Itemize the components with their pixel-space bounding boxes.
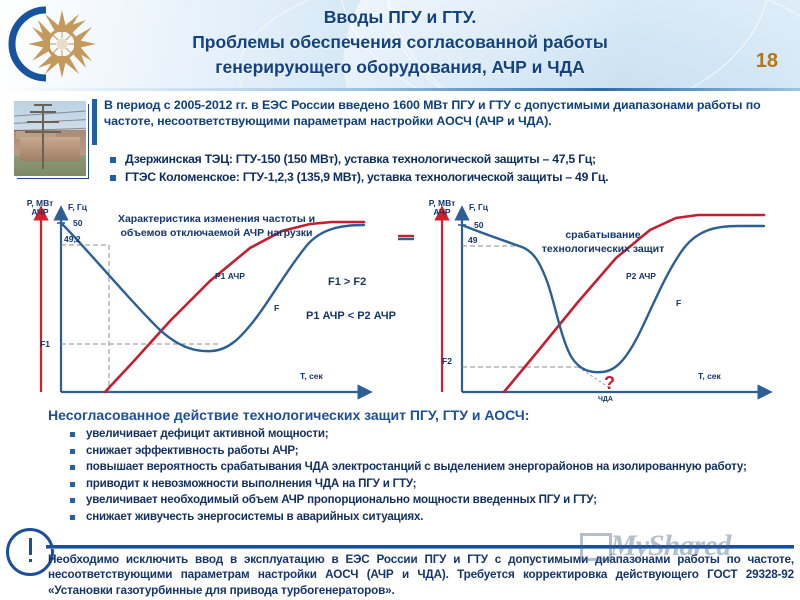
bullet-square-icon [70,449,75,454]
intro-bullet-1: Дзержинская ТЭЦ: ГТУ-150 (150 МВт), уста… [125,152,596,167]
svg-text:P2 АЧР: P2 АЧР [626,271,656,281]
svg-text:F: F [274,303,279,313]
svg-text:?: ? [604,373,615,393]
list-item: ГТЭС Коломенское: ГТУ-1,2,3 (135,9 МВт),… [110,170,800,185]
left-chart-note-2: P1 АЧР < P2 АЧР [306,310,396,322]
bullet-square-icon [70,515,75,520]
svg-text:50: 50 [73,218,83,228]
svg-text:F1: F1 [40,339,50,349]
charts-region: P, МВт АЧР F, Гц 50 49,2 F1 Т, сек P1 АЧ… [0,196,800,404]
left-chart-title-text: Характеристика изменения частоты и объем… [118,213,315,239]
intro-bullet-list: Дзержинская ТЭЦ: ГТУ-150 (150 МВт), уста… [110,152,800,188]
footer-divider [46,545,794,548]
slide-header: Вводы ПГУ и ГТУ. Проблемы обеспечения со… [0,0,800,88]
list-item: повышает вероятность срабатывания ЧДА эл… [70,460,788,474]
svg-text:F: F [676,298,681,308]
bullet-square-icon [70,432,75,437]
conclusion-item-2: снижает эффективность работы АЧР; [86,444,298,458]
svg-text:Т, сек: Т, сек [300,371,324,381]
legend-line-sample [398,236,414,239]
svg-text:ЧДА: ЧДА [598,396,613,403]
page-title-line-3: генерирующего оборудования, АЧР и ЧДА [120,55,680,80]
svg-text:49: 49 [468,235,478,245]
slide-number: 18 [756,50,778,73]
list-item: Дзержинская ТЭЦ: ГТУ-150 (150 МВт), уста… [110,152,800,167]
conclusions-list: увеличивает дефицит активной мощности; с… [70,427,788,526]
slide-root: Вводы ПГУ и ГТУ. Проблемы обеспечения со… [0,0,800,600]
bullet-square-icon [110,157,116,163]
intro-block: В период с 2005-2012 гг. в ЕЭС России вв… [92,97,794,130]
svg-text:Т, сек: Т, сек [698,371,722,381]
svg-text:F2: F2 [442,356,452,366]
page-title-line-2: Проблемы обеспечения согласованной работ… [120,30,680,55]
intro-paragraph: В период с 2005-2012 гг. в ЕЭС России вв… [92,97,794,130]
intro-accent-bar [92,99,97,145]
list-item: снижает живучесть энергосистемы в аварий… [70,510,788,524]
bullet-square-icon [70,482,75,487]
right-chart-title: срабатывание технологических защит [538,228,668,256]
list-item: снижает эффективность работы АЧР; [70,444,788,458]
svg-text:АЧР: АЧР [31,207,48,217]
svg-text:F, Гц: F, Гц [469,202,489,212]
svg-text:P1 АЧР: P1 АЧР [215,271,245,281]
page-title-line-1: Вводы ПГУ и ГТУ. [120,5,680,30]
conclusion-item-6: снижает живучесть энергосистемы в аварий… [86,510,423,524]
right-chart: P, МВт АЧР F, Гц 50 49 F2 Т, сек P2 АЧР … [398,196,800,404]
sun-emblem-logo [8,4,103,84]
left-chart-note-1: F1 > F2 [328,276,366,288]
footer-conclusion-text: Необходимо исключить ввод в эксплуатацию… [48,552,794,598]
list-item: увеличивает необходимый объем АЧР пропор… [70,493,788,507]
header-divider [0,88,800,91]
conclusion-item-4: приводит к невозможности выполнения ЧДА … [86,477,416,491]
bullet-square-icon [70,498,75,503]
conclusion-item-3: повышает вероятность срабатывания ЧДА эл… [86,460,786,474]
svg-text:F, Гц: F, Гц [68,202,88,212]
power-plant-photo [12,99,88,178]
bullet-square-icon [70,465,75,470]
left-chart: P, МВт АЧР F, Гц 50 49,2 F1 Т, сек P1 АЧ… [0,196,400,404]
intro-bullet-2: ГТЭС Коломенское: ГТУ-1,2,3 (135,9 МВт),… [125,170,608,185]
list-item: увеличивает дефицит активной мощности; [70,427,788,441]
svg-text:50: 50 [474,220,484,230]
list-item: приводит к невозможности выполнения ЧДА … [70,477,788,491]
conclusion-item-1: увеличивает дефицит активной мощности; [86,427,328,441]
bullet-square-icon [110,175,116,181]
svg-text:49,2: 49,2 [64,234,81,244]
conclusion-item-5: увеличивает необходимый объем АЧР пропор… [86,493,597,507]
svg-text:АЧР: АЧР [433,207,450,217]
conclusions-heading: Несогласованное действие технологических… [48,407,529,423]
exclamation-circle-icon [6,528,54,576]
left-chart-title: Характеристика изменения частоты и объем… [94,213,339,240]
page-title: Вводы ПГУ и ГТУ. Проблемы обеспечения со… [120,5,680,80]
